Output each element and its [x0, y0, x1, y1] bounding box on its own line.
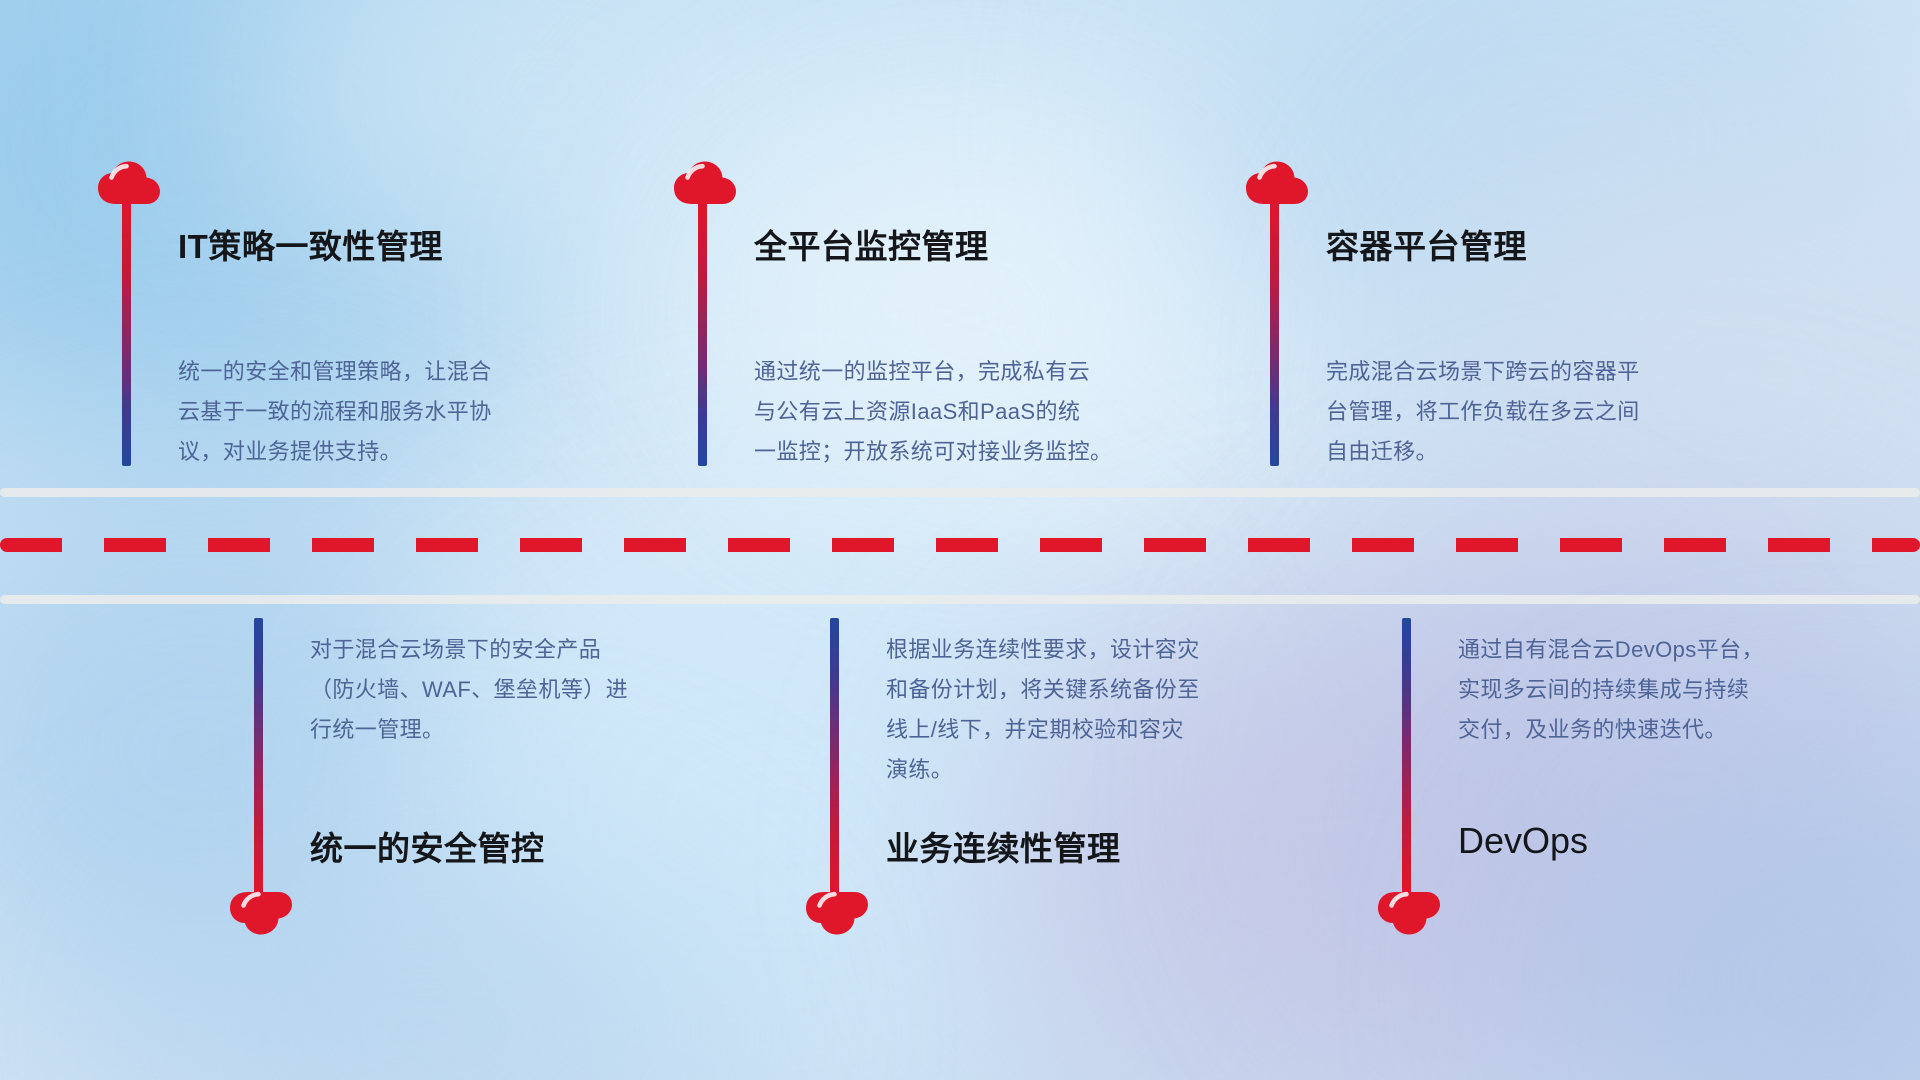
dashed-separator [0, 538, 1920, 552]
card-title: 统一的安全管控 [310, 822, 545, 870]
connector-stem [698, 200, 707, 466]
card-body: 根据业务连续性要求，设计容灾 和备份计划，将关键系统备份至 线上/线下，并定期校… [886, 630, 1316, 790]
divider-rule-top [0, 488, 1920, 497]
card-title: 全平台监控管理 [754, 220, 989, 268]
cloud-icon [804, 890, 870, 936]
connector-stem [1270, 200, 1279, 466]
card-body: 通过自有混合云DevOps平台， 实现多云间的持续集成与持续 交付，及业务的快速… [1458, 630, 1878, 750]
card-title: 业务连续性管理 [886, 822, 1121, 870]
infographic-canvas: IT策略一致性管理 统一的安全和管理策略，让混合 云基于一致的流程和服务水平协 … [0, 0, 1920, 1080]
card-title: IT策略一致性管理 [178, 220, 443, 268]
connector-stem [254, 618, 263, 896]
card-title: DevOps [1458, 820, 1588, 862]
card-body: 对于混合云场景下的安全产品 （防火墙、WAF、堡垒机等）进 行统一管理。 [310, 630, 730, 750]
card-body: 完成混合云场景下跨云的容器平 台管理，将工作负载在多云之间 自由迁移。 [1326, 352, 1746, 472]
divider-rule-bottom [0, 595, 1920, 604]
card-body: 通过统一的监控平台，完成私有云 与公有云上资源IaaS和PaaS的统 一监控；开… [754, 352, 1184, 472]
cloud-icon [1376, 890, 1442, 936]
connector-stem [122, 200, 131, 466]
connector-stem [1402, 618, 1411, 896]
card-body: 统一的安全和管理策略，让混合 云基于一致的流程和服务水平协 议，对业务提供支持。 [178, 352, 598, 472]
connector-stem [830, 618, 839, 896]
card-title: 容器平台管理 [1326, 220, 1527, 268]
cloud-icon [228, 890, 294, 936]
section-divider [0, 488, 1920, 604]
